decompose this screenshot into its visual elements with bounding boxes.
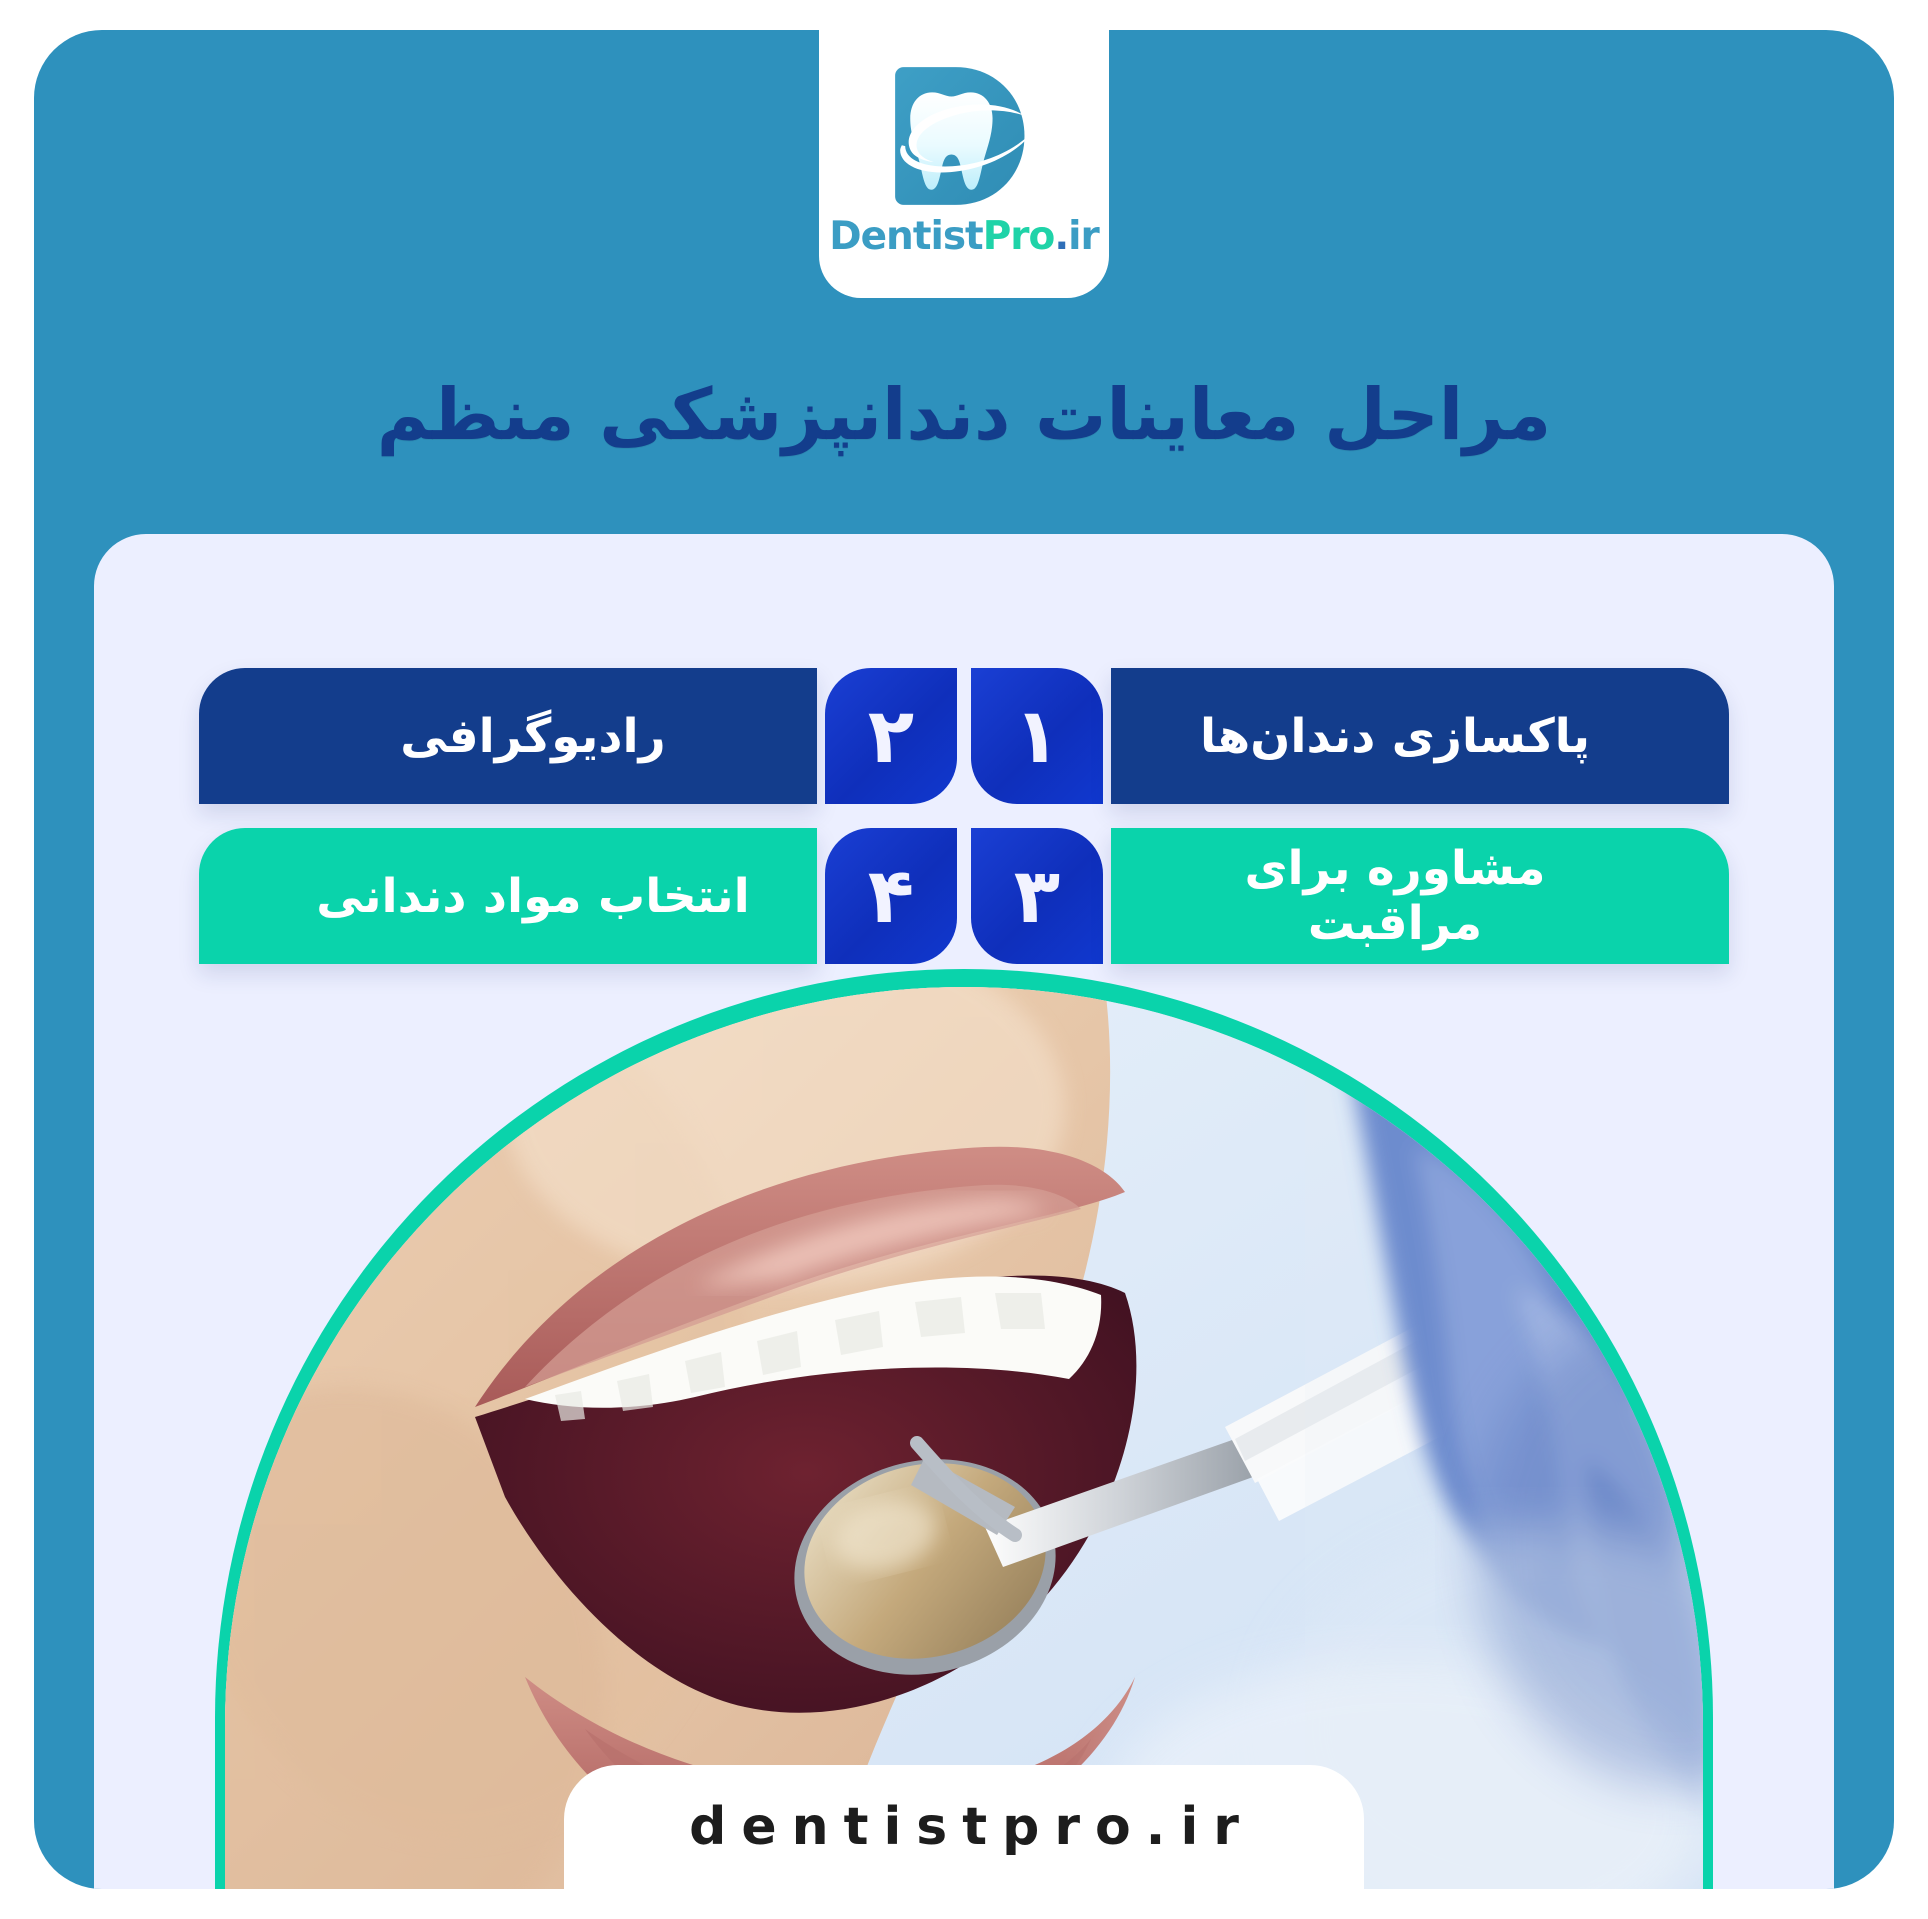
wordmark-pro: Pro [983,214,1055,259]
footer-url-text: dentistpro.ir [674,1797,1254,1857]
wordmark-dentist: Dentist [829,214,982,259]
footer-url-band: dentistpro.ir [564,1765,1364,1889]
brand-logo-badge: DentistPro.ir [819,30,1109,298]
content-panel: رادیوگرافی ۲ ۱ پاکسازی دندان‌ها انتخاب م… [94,534,1834,1889]
step-label-3: مشاوره برای مراقبت [1111,841,1637,951]
step-row: انتخاب مواد دندانی ۴ ۳ مشاوره برای مراقب… [146,828,1782,964]
step-number-1: ۱ [971,668,1103,804]
step-card-1[interactable]: پاکسازی دندان‌ها [1111,668,1729,804]
page-title: مراحل معاینات دندانپزشکی منظم [34,370,1894,461]
step-number-4: ۴ [825,828,957,964]
step-number-pair: ۴ ۳ [825,828,1103,964]
wordmark-tld: ir [1068,214,1099,259]
infographic-poster: DentistPro.ir مراحل معاینات دندانپزشکی م… [0,0,1928,1919]
step-card-3[interactable]: مشاوره برای مراقبت [1111,828,1729,964]
step-number-pair: ۲ ۱ [825,668,1103,804]
wordmark-dot: . [1054,214,1068,259]
step-label-1: پاکسازی دندان‌ها [1111,709,1637,764]
tooth-logo-icon [880,52,1048,220]
step-label-4: انتخاب مواد دندانی [291,869,817,924]
steps-grid: رادیوگرافی ۲ ۱ پاکسازی دندان‌ها انتخاب م… [146,668,1782,988]
photo-illustration [225,987,1703,1889]
step-number-2: ۲ [825,668,957,804]
poster-backdrop: DentistPro.ir مراحل معاینات دندانپزشکی م… [34,30,1894,1889]
dental-examination-photo [225,987,1703,1889]
brand-wordmark: DentistPro.ir [829,214,1099,259]
step-label-2: رادیوگرافی [291,709,817,764]
step-card-2[interactable]: رادیوگرافی [199,668,817,804]
step-number-3: ۳ [971,828,1103,964]
step-card-4[interactable]: انتخاب مواد دندانی [199,828,817,964]
photo-section [94,989,1834,1889]
step-row: رادیوگرافی ۲ ۱ پاکسازی دندان‌ها [146,668,1782,804]
